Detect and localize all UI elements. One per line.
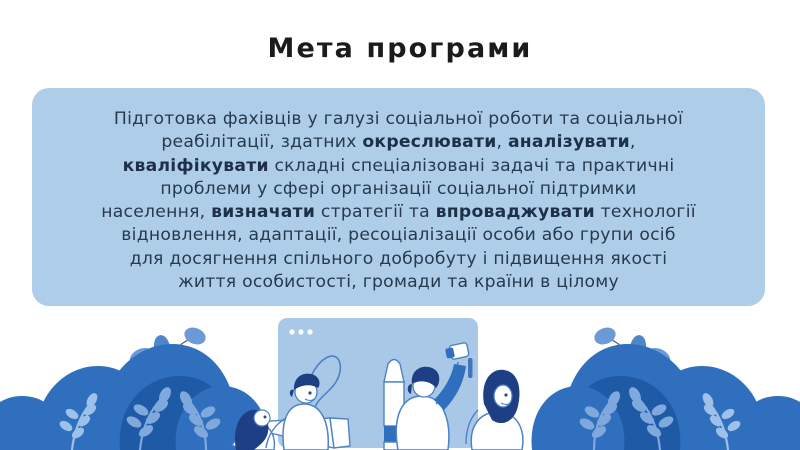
goal-text-fragment: реабілітації, здатних [161, 132, 362, 152]
slide-root: Мета програми Підготовка фахівців у галу… [0, 0, 800, 450]
goal-text-fragment: відновлення, адаптації, ресоціалізації о… [121, 225, 675, 245]
goal-text-fragment: , [497, 132, 508, 152]
person-blue-hair [266, 374, 328, 450]
foliage-right [532, 324, 800, 450]
goal-text-fragment: Підготовка фахівців у галузі соціальної … [114, 109, 683, 129]
goal-text-line-6: відновлення, адаптації, ресоціалізації о… [42, 224, 755, 247]
goal-text-fragment: життя особистості, громади та країни в ц… [178, 272, 619, 292]
illustration-canvas [0, 318, 800, 450]
goal-term-highlight: окреслювати [362, 132, 496, 152]
goal-text-card: Підготовка фахівців у галузі соціальної … [32, 88, 765, 306]
foliage-left [0, 324, 268, 450]
goal-text-line-1: Підготовка фахівців у галузі соціальної … [42, 108, 755, 131]
goal-term-highlight: впроваджувати [436, 202, 595, 222]
page-title: Мета програми [0, 33, 800, 64]
screen-dot-2 [298, 329, 303, 334]
screen-dot-1 [289, 329, 294, 334]
goal-text-fragment: технології [595, 202, 696, 222]
goal-text-fragment: складні спеціалізовані задачі та практич… [269, 156, 675, 176]
goal-text-line-8: життя особистості, громади та країни в ц… [42, 271, 755, 294]
goal-text-fragment: населення, [101, 202, 211, 222]
goal-text-fragment: стратегії та [315, 202, 436, 222]
goal-paragraph: Підготовка фахівців у галузі соціальної … [32, 108, 765, 294]
goal-text-fragment: , [630, 132, 636, 152]
goal-text-line-5: населення, визначати стратегії та впрова… [42, 201, 755, 224]
illustration-people-pencils [0, 300, 800, 450]
goal-text-line-4: проблеми у сфері організації соціальної … [42, 178, 755, 201]
goal-text-line-2: реабілітації, здатних окреслювати, аналі… [42, 131, 755, 154]
screen-side-marker [468, 358, 473, 378]
goal-term-highlight: кваліфікувати [123, 156, 269, 176]
goal-text-fragment: для досягнення спільного добробуту і під… [130, 249, 668, 269]
goal-text-line-3: кваліфікувати складні спеціалізовані зад… [42, 155, 755, 178]
screen-dot-3 [307, 329, 312, 334]
goal-term-highlight: визначати [211, 202, 315, 222]
goal-text-fragment: проблеми у сфері організації соціальної … [160, 179, 636, 199]
goal-term-highlight: аналізувати [508, 132, 630, 152]
goal-text-line-7: для досягнення спільного добробуту і під… [42, 248, 755, 271]
